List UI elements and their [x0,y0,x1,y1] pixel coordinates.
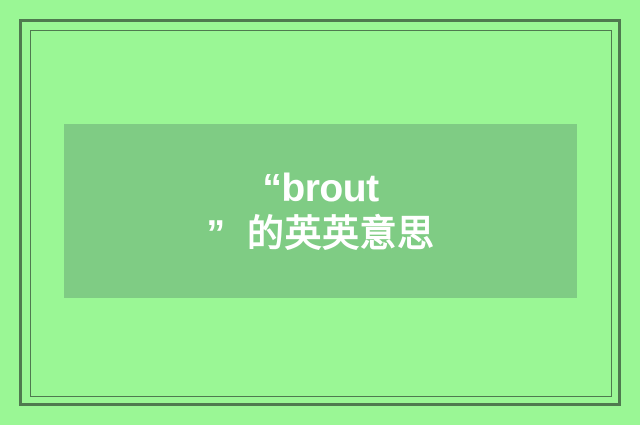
page-title-line-1: “brout [64,167,577,211]
page-title: “brout ” 的英英意思 [64,167,577,254]
title-panel: “brout ” 的英英意思 [64,124,577,298]
page-canvas: “brout ” 的英英意思 [0,0,640,425]
page-title-line-2: ” 的英英意思 [64,213,577,254]
